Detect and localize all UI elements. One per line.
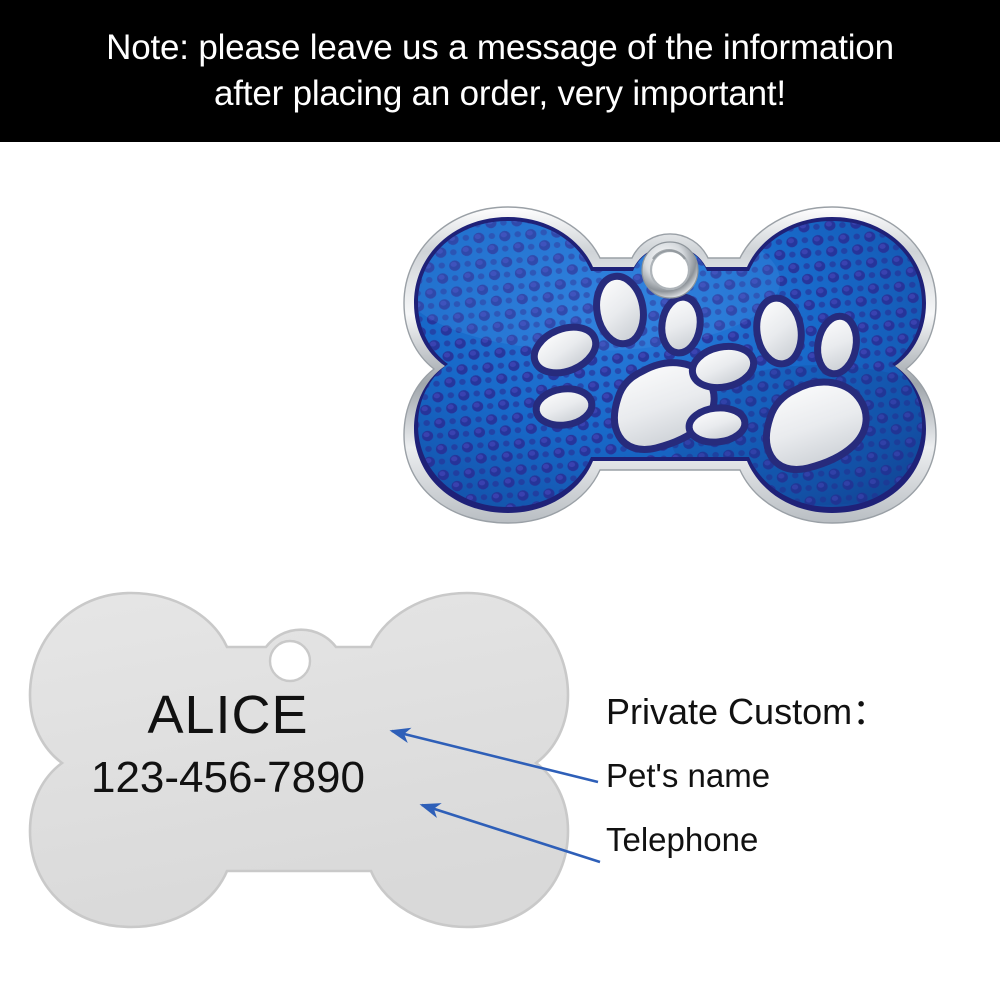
grey-bone-tag-graphic: [18, 583, 578, 935]
grey-tag-hanging-hole: [270, 641, 310, 681]
blue-bone-tag-graphic: [390, 185, 950, 535]
blue-bone-tag: [390, 185, 950, 535]
product-image-canvas: Note: please leave us a message of the i…: [0, 0, 1000, 1000]
note-banner: Note: please leave us a message of the i…: [0, 0, 1000, 142]
private-custom-heading: Private Custom：: [606, 690, 986, 734]
blue-tag-hanging-hole: [642, 242, 698, 298]
note-banner-line-2: after placing an order, very important!: [214, 71, 786, 117]
callout-label-group: Private Custom： Pet's name Telephone: [606, 690, 986, 860]
grey-bone-tag: [18, 583, 578, 935]
callout-label-telephone: Telephone: [606, 820, 986, 860]
note-banner-line-1: Note: please leave us a message of the i…: [106, 25, 894, 71]
callout-label-pets-name: Pet's name: [606, 756, 986, 796]
